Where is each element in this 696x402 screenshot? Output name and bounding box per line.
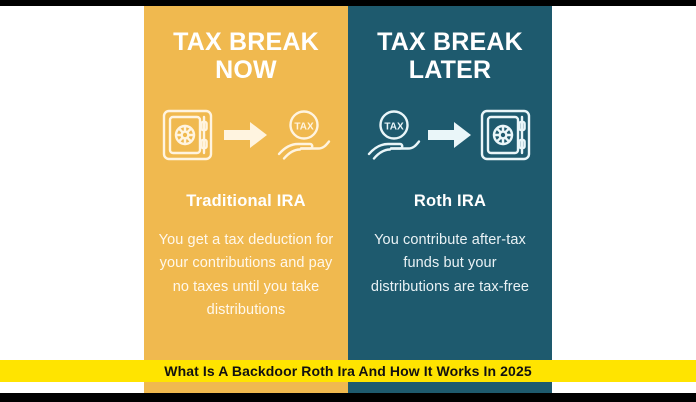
safe-icon (160, 106, 218, 164)
panel-later-subtitle: Roth IRA (414, 192, 486, 211)
panel-now-body: You get a tax deduction for your contrib… (158, 229, 334, 323)
panel-tax-break-now: TAX BREAK NOW (144, 6, 348, 393)
panel-later-headline-line2: LATER (355, 56, 545, 84)
panel-later-icon-row: TAX (355, 104, 545, 166)
hand-holding-tax-coin-icon: TAX (274, 106, 332, 164)
panel-now-headline-line2: NOW (151, 56, 341, 84)
caption-banner: What Is A Backdoor Roth Ira And How It W… (0, 360, 696, 382)
infographic-canvas: TAX BREAK NOW (0, 6, 696, 393)
panel-now-headline-line1: TAX BREAK (151, 28, 341, 56)
panel-now-subtitle: Traditional IRA (186, 192, 305, 211)
panel-now-icon-row: TAX (151, 104, 341, 166)
panel-tax-break-later: TAX BREAK LATER TAX (348, 6, 552, 393)
caption-text: What Is A Backdoor Roth Ira And How It W… (164, 363, 531, 379)
panel-later-headline-line1: TAX BREAK (355, 28, 545, 56)
arrow-right-icon (224, 120, 268, 150)
infographic-frame: TAX BREAK NOW (0, 0, 696, 402)
safe-icon (478, 106, 536, 164)
svg-text:TAX: TAX (384, 121, 404, 132)
svg-text:TAX: TAX (294, 121, 314, 132)
panel-now-headline: TAX BREAK NOW (151, 28, 341, 84)
arrow-right-icon (428, 120, 472, 150)
panel-later-body: You contribute after-tax funds but your … (362, 229, 538, 299)
panel-later-headline: TAX BREAK LATER (355, 28, 545, 84)
comparison-panels: TAX BREAK NOW (144, 6, 552, 393)
hand-holding-tax-coin-icon: TAX (364, 106, 422, 164)
